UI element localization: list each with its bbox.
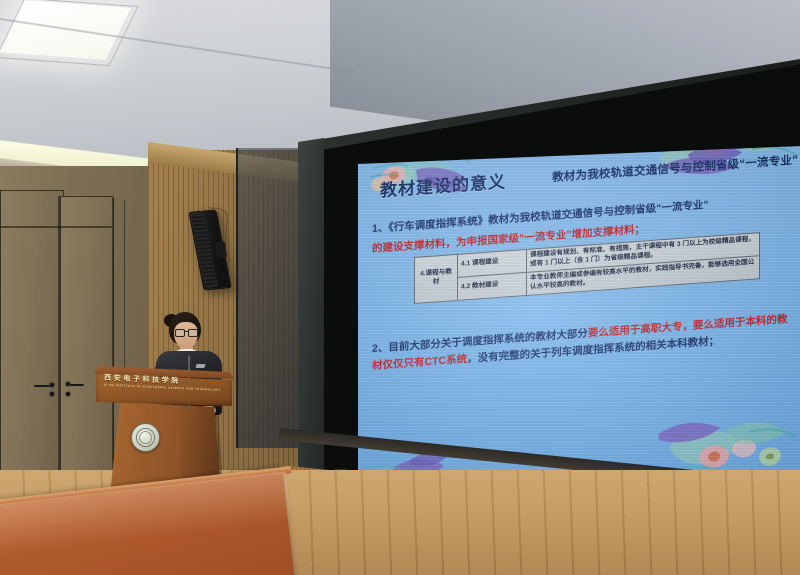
door-handle-left-icon[interactable] xyxy=(50,383,54,387)
speaker-bracket xyxy=(215,241,227,258)
slide-point2: 2、目前大部分关于调度指挥系统的教材大部分要么适用于高职大专，要么适用于本科的教… xyxy=(372,311,796,375)
door-transom-line xyxy=(0,226,112,228)
glasses-bridge xyxy=(184,331,188,332)
screen-side-edge xyxy=(298,138,324,518)
door-left-leaf[interactable] xyxy=(0,190,64,492)
table-cell-group: 4.课程与教材 xyxy=(415,254,458,303)
door-lock-right-icon[interactable] xyxy=(66,392,70,396)
glasses-right-lens xyxy=(188,329,198,337)
slide-point2-line-c: 统的相关本科教材； xyxy=(625,335,720,354)
slide-lead-line: 教材为我校轨道交通信号与控制省级“一流专业” xyxy=(508,152,798,191)
table-cell-code: 4.2 教材建设 xyxy=(458,272,527,300)
lecture-hall-scene: 教材建设的意义 教材为我校轨道交通信号与控制省级“一流专业” 1、《行车调度指挥… xyxy=(0,0,800,575)
door-push-bar-right[interactable] xyxy=(70,384,84,386)
projection-screen: 教材建设的意义 教材为我校轨道交通信号与控制省级“一流专业” 1、《行车调度指挥… xyxy=(296,58,800,478)
door-lock-left-icon[interactable] xyxy=(50,392,54,396)
emblem-ring-inner xyxy=(139,431,152,444)
door-center-gap xyxy=(58,196,60,488)
door-push-bar-left[interactable] xyxy=(34,385,50,387)
slide-title: 教材建设的意义 xyxy=(380,167,506,201)
presenter-glasses-icon xyxy=(175,329,197,335)
podium-emblem-icon xyxy=(131,423,160,452)
